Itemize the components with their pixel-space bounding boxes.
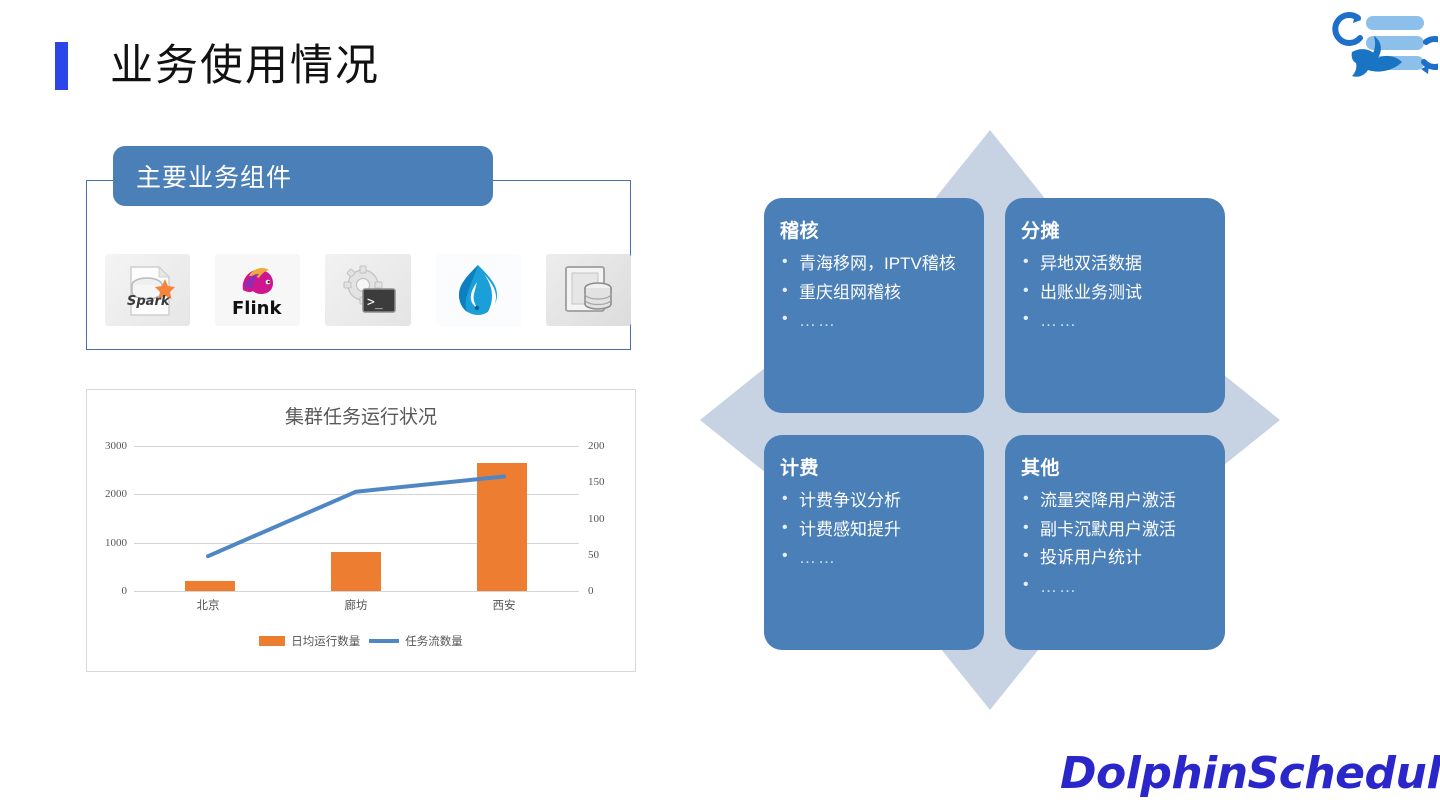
list-item: …… <box>1021 307 1209 335</box>
legend-label-bar: 日均运行数量 <box>291 633 360 649</box>
y-tick-right: 0 <box>588 585 594 597</box>
card-title: 计费 <box>780 453 968 480</box>
legend-item-line: 任务流数量 <box>369 633 463 649</box>
shell-terminal-icon[interactable]: >_ <box>325 254 410 326</box>
legend-item-bar: 日均运行数量 <box>259 633 360 649</box>
spark-icon[interactable]: Spark <box>105 254 190 326</box>
list-item: 投诉用户统计 <box>1021 544 1209 572</box>
y-tick-right: 150 <box>588 476 605 488</box>
business-quadrant-diagram: 稽核 青海移网，IPTV稽核 重庆组网稽核 …… 分摊 异地双活数据 出账业务测… <box>700 130 1280 710</box>
x-tick-label: 北京 <box>197 597 220 613</box>
y-tick-left: 1000 <box>105 537 127 549</box>
task-flow-line <box>134 446 579 591</box>
x-tick-label: 廊坊 <box>345 597 368 613</box>
components-icon-row: Spark Flink <box>86 252 631 328</box>
dolphinscheduler-logo-icon <box>1322 8 1438 86</box>
legend-label-line: 任务流数量 <box>405 633 463 649</box>
chart-plot-area: 3000 2000 1000 0 200 150 100 50 0 <box>134 446 579 591</box>
card-item-list: 异地双活数据 出账业务测试 …… <box>1021 250 1209 335</box>
x-tick-label: 西安 <box>493 597 516 613</box>
card-title: 稽核 <box>780 216 968 243</box>
list-item: 出账业务测试 <box>1021 279 1209 307</box>
card-title: 分摊 <box>1021 216 1209 243</box>
y-tick-right: 50 <box>588 549 599 561</box>
gridline <box>134 591 579 592</box>
card-item-list: 流量突降用户激活 副卡沉默用户激活 投诉用户统计 …… <box>1021 487 1209 600</box>
quadrant-card-other[interactable]: 其他 流量突降用户激活 副卡沉默用户激活 投诉用户统计 …… <box>1005 435 1225 650</box>
legend-swatch-bar <box>259 636 285 646</box>
quadrant-card-allocation[interactable]: 分摊 异地双活数据 出账业务测试 …… <box>1005 198 1225 413</box>
y-tick-left: 2000 <box>105 488 127 500</box>
y-tick-left: 0 <box>122 585 128 597</box>
svg-text:Spark: Spark <box>127 294 171 309</box>
list-item: …… <box>1021 573 1209 601</box>
list-item: 流量突降用户激活 <box>1021 487 1209 515</box>
y-tick-left: 3000 <box>105 440 127 452</box>
cluster-task-chart: 集群任务运行状况 3000 2000 1000 0 200 150 100 50… <box>86 389 636 672</box>
list-item: 重庆组网稽核 <box>780 279 968 307</box>
svg-text:Flink: Flink <box>232 298 282 319</box>
list-item: 计费感知提升 <box>780 516 968 544</box>
card-title: 其他 <box>1021 453 1209 480</box>
slide-root: 业务使用情况 主要业务组件 Spark <box>0 0 1440 810</box>
page-title: 业务使用情况 <box>110 38 380 94</box>
y-tick-right: 200 <box>588 440 605 452</box>
flume-icon[interactable] <box>436 254 521 326</box>
svg-text:>_: >_ <box>367 295 383 310</box>
quadrant-card-billing[interactable]: 计费 计费争议分析 计费感知提升 …… <box>764 435 984 650</box>
card-item-list: 计费争议分析 计费感知提升 …… <box>780 487 968 572</box>
list-item: 异地双活数据 <box>1021 250 1209 278</box>
sql-database-icon[interactable] <box>546 254 631 326</box>
flink-icon[interactable]: Flink <box>215 254 300 326</box>
y-tick-right: 100 <box>588 513 605 525</box>
quadrant-card-audit[interactable]: 稽核 青海移网，IPTV稽核 重庆组网稽核 …… <box>764 198 984 413</box>
chart-legend: 日均运行数量 任务流数量 <box>87 633 635 649</box>
title-accent-bar <box>55 42 68 90</box>
list-item: 青海移网，IPTV稽核 <box>780 250 968 278</box>
legend-swatch-line <box>369 639 399 643</box>
card-item-list: 青海移网，IPTV稽核 重庆组网稽核 …… <box>780 250 968 335</box>
components-banner-label: 主要业务组件 <box>136 158 292 194</box>
chart-title: 集群任务运行状况 <box>87 402 635 429</box>
list-item: …… <box>780 544 968 572</box>
components-banner: 主要业务组件 <box>113 146 493 206</box>
list-item: …… <box>780 307 968 335</box>
list-item: 副卡沉默用户激活 <box>1021 516 1209 544</box>
list-item: 计费争议分析 <box>780 487 968 515</box>
dolphinscheduler-wordmark: DolphinScheduler <box>1060 748 1440 799</box>
